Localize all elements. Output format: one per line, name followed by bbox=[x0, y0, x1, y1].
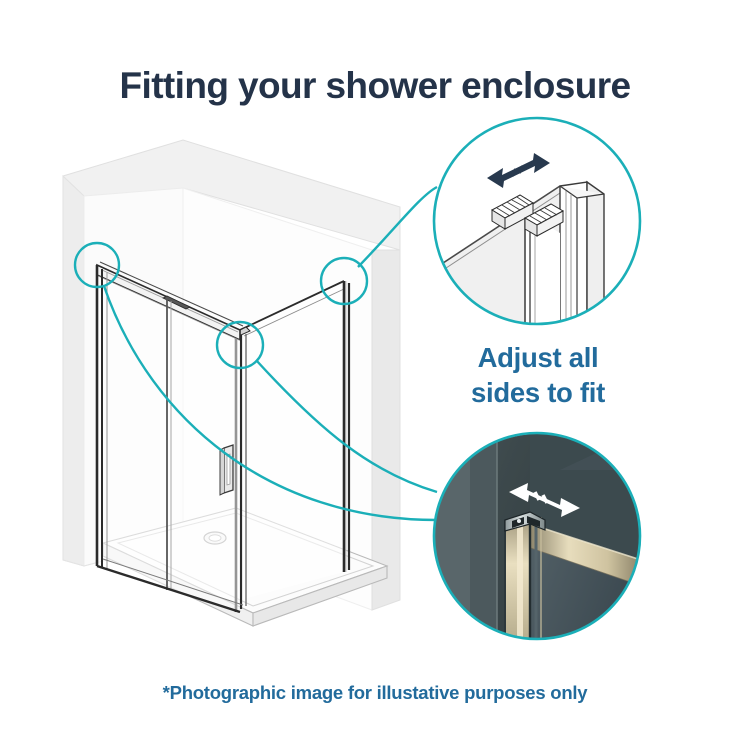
instruction-graphic: Fitting your shower enclosure bbox=[0, 0, 750, 750]
footnote-text: *Photographic image for illustative purp… bbox=[0, 682, 750, 704]
callout-text: Adjust all sides to fit bbox=[418, 340, 658, 410]
callout-line-2: sides to fit bbox=[471, 377, 605, 408]
shower-enclosure-drawing bbox=[63, 140, 437, 626]
callout-line-1: Adjust all bbox=[478, 342, 599, 373]
door-corner-photo-inset bbox=[433, 432, 641, 640]
wall-profile-adjustment-inset bbox=[433, 117, 641, 330]
door-handle bbox=[220, 445, 233, 495]
